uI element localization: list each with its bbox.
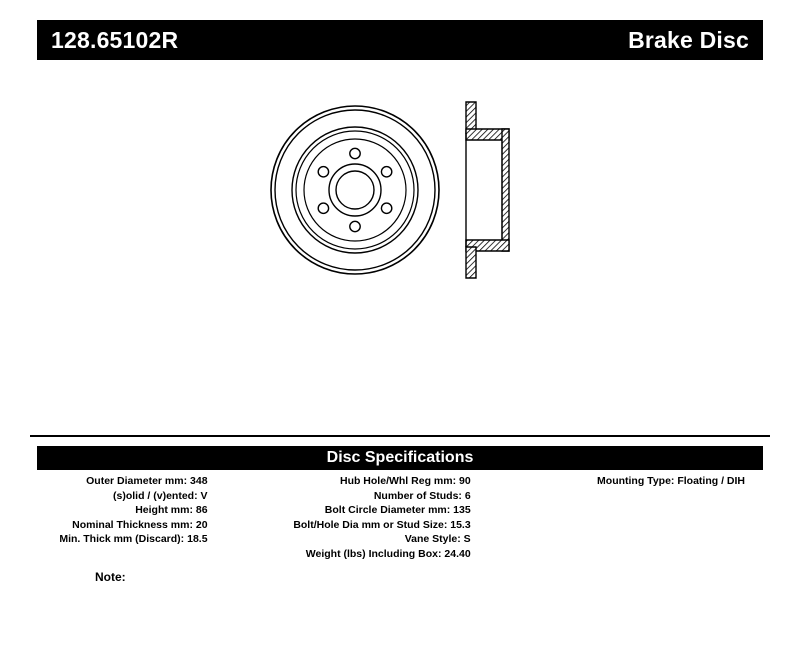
spec-row: Height mm: 86 [135, 503, 207, 518]
spec-value: 15.3 [450, 519, 470, 531]
note-label: Note: [95, 570, 126, 584]
spec-row: Min. Thick mm (Discard): 18.5 [59, 532, 207, 547]
brake-disc-cross-section-view [466, 102, 509, 278]
spec-label: Weight (lbs) Including Box: [306, 548, 442, 560]
spec-column-middle: Hub Hole/Whl Reg mm: 90 Number of Studs:… [208, 474, 489, 561]
spec-column-right: Mounting Type: Floating / DIH [489, 474, 763, 489]
spec-value: 90 [459, 475, 471, 487]
spec-label: Hub Hole/Whl Reg mm: [340, 475, 456, 487]
spec-label: Bolt/Hole Dia mm or Stud Size: [293, 519, 447, 531]
spec-value: V [201, 490, 208, 502]
spec-label: Min. Thick mm (Discard): [59, 533, 184, 545]
brake-disc-front-view [271, 106, 439, 274]
spec-label: Number of Studs: [374, 490, 462, 502]
spec-label: Height mm: [135, 504, 193, 516]
spec-label: Vane Style: [405, 533, 461, 545]
spec-value: 348 [190, 475, 208, 487]
spec-value: 20 [196, 519, 208, 531]
spec-row: (s)olid / (v)ented: V [113, 489, 208, 504]
part-number-label: 128.65102R [51, 29, 178, 52]
spec-value: 6 [465, 490, 471, 502]
spec-column-left: Outer Diameter mm: 348 (s)olid / (v)ente… [37, 474, 208, 547]
spec-label: Nominal Thickness mm: [72, 519, 193, 531]
header-bar: 128.65102R Brake Disc [37, 20, 763, 60]
spec-value: 135 [453, 504, 471, 516]
specifications-table: Outer Diameter mm: 348 (s)olid / (v)ente… [37, 474, 763, 561]
spec-value: Floating / DIH [677, 475, 745, 487]
spec-row: Hub Hole/Whl Reg mm: 90 [340, 474, 471, 489]
spec-row: Vane Style: S [405, 532, 471, 547]
spec-value: 18.5 [187, 533, 207, 545]
spec-value: 24.40 [444, 548, 470, 560]
spec-row: Bolt/Hole Dia mm or Stud Size: 15.3 [293, 518, 470, 533]
spec-row: Weight (lbs) Including Box: 24.40 [306, 547, 471, 562]
product-type-label: Brake Disc [628, 29, 749, 52]
spec-row: Bolt Circle Diameter mm: 135 [325, 503, 471, 518]
spec-label: Mounting Type: [597, 475, 674, 487]
spec-value: 86 [196, 504, 208, 516]
spec-label: (s)olid / (v)ented: [113, 490, 198, 502]
spec-row: Outer Diameter mm: 348 [86, 474, 207, 489]
spec-row: Number of Studs: 6 [374, 489, 471, 504]
note-block: Note: [95, 570, 132, 584]
disc-specifications-header: Disc Specifications [37, 446, 763, 470]
spec-value: S [464, 533, 471, 545]
spec-row: Nominal Thickness mm: 20 [72, 518, 207, 533]
spec-row: Mounting Type: Floating / DIH [597, 474, 745, 489]
product-drawing [260, 85, 550, 300]
spec-label: Bolt Circle Diameter mm: [325, 504, 450, 516]
spec-label: Outer Diameter mm: [86, 475, 187, 487]
section-divider [30, 435, 770, 437]
disc-specifications-title: Disc Specifications [327, 450, 474, 466]
